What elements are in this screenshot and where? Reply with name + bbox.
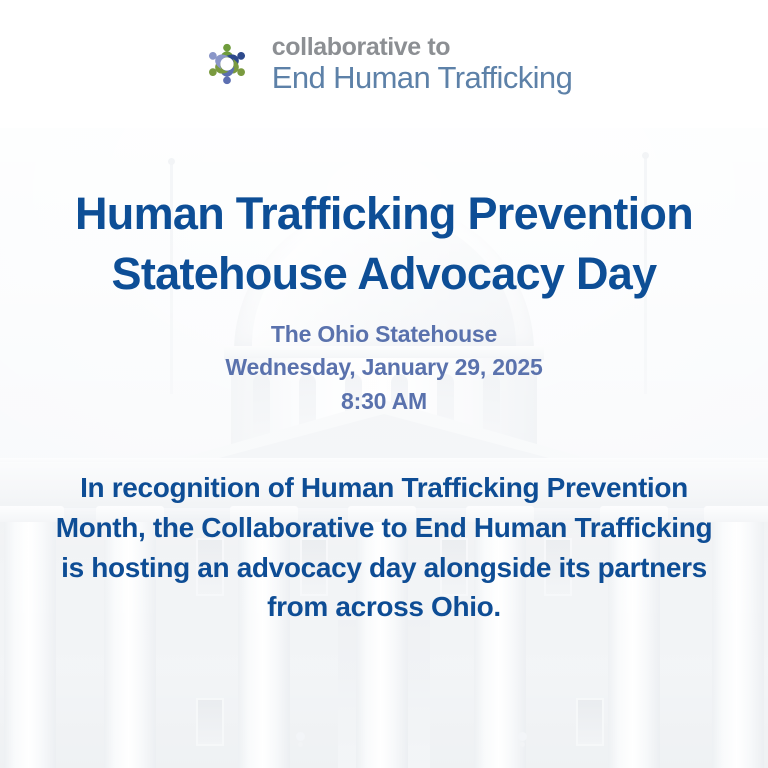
page-title: Human Trafficking Prevention Statehouse … <box>0 184 768 304</box>
logo-wordmark: collaborative to End Human Trafficking <box>272 35 572 93</box>
organization-logo[interactable]: collaborative to End Human Trafficking <box>196 35 572 93</box>
event-time: 8:30 AM <box>0 385 768 418</box>
logo-line-2: End Human Trafficking <box>272 62 572 93</box>
logo-header: collaborative to End Human Trafficking <box>0 0 768 128</box>
title-line-2: Statehouse Advocacy Day <box>0 244 768 304</box>
event-details: The Ohio Statehouse Wednesday, January 2… <box>0 318 768 418</box>
logo-line-1: collaborative to <box>272 35 572 60</box>
event-venue: The Ohio Statehouse <box>0 318 768 351</box>
event-description: In recognition of Human Trafficking Prev… <box>54 468 714 627</box>
event-date: Wednesday, January 29, 2025 <box>0 351 768 384</box>
collaborative-people-circle-logo-icon <box>196 35 258 93</box>
flyer-content: Human Trafficking Prevention Statehouse … <box>0 128 768 768</box>
event-flyer: collaborative to End Human Trafficking H… <box>0 0 768 768</box>
title-line-1: Human Trafficking Prevention <box>0 184 768 244</box>
